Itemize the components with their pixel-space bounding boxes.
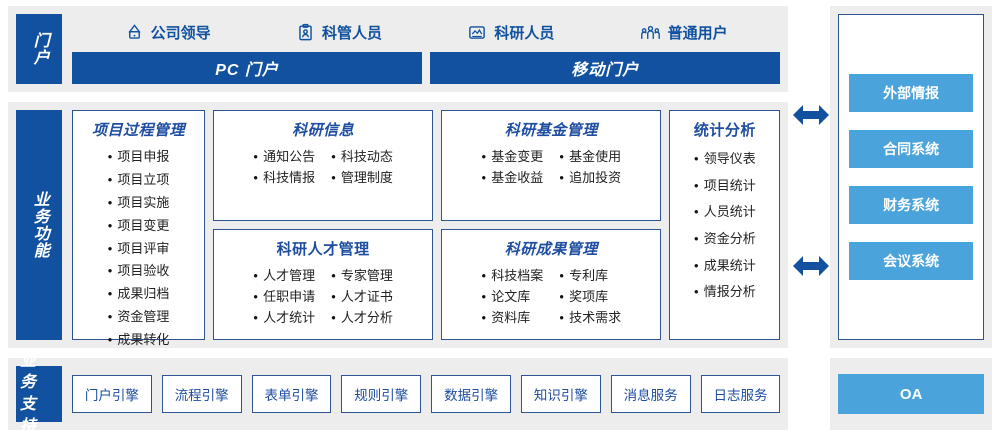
role-company-leader[interactable]: 公司领导 (125, 22, 211, 43)
column-info-talent: 科研信息 通知公告 科技动态 科技情报 管理制度 科研人才管理 人才管理 专家管… (213, 110, 433, 340)
portal-band: 门户 公司领导 (8, 6, 788, 92)
list-item[interactable]: 人才证书 (331, 286, 393, 307)
list-item[interactable]: 成果转化 (108, 329, 170, 352)
portal-band-label-text: 门户 (28, 32, 50, 66)
list-item[interactable]: 项目立项 (108, 169, 170, 192)
list-item[interactable]: 基金使用 (559, 146, 621, 167)
list-item[interactable]: 人才分析 (331, 307, 393, 328)
external-system-intelligence[interactable]: 外部情报 (849, 74, 973, 112)
double-arrow-icon (792, 102, 830, 128)
list-item[interactable]: 成果统计 (694, 253, 756, 280)
oa-band: OA (830, 358, 992, 430)
connector-arrows (790, 0, 832, 436)
column-fund-achievement: 科研基金管理 基金变更 基金使用 基金收益 追加投资 科研成果管理 科技档案 专… (441, 110, 661, 340)
business-support-band-label-text: 业务支持 (18, 351, 39, 436)
researcher-icon (467, 23, 487, 42)
list-item[interactable]: 专家管理 (331, 265, 393, 286)
card-items-research-fund: 基金变更 基金使用 基金收益 追加投资 (481, 146, 621, 188)
external-systems-band: 外部情报 合同系统 财务系统 会议系统 (830, 6, 992, 348)
list-item[interactable]: 科技情报 (253, 167, 315, 188)
list-item[interactable]: 项目统计 (694, 173, 756, 200)
engine-workflow[interactable]: 流程引擎 (162, 375, 242, 413)
role-general-user[interactable]: 普通用户 (640, 22, 728, 43)
portal-bars: PC 门户 移动门户 (72, 52, 780, 84)
card-items-project-process: 项目申报 项目立项 项目实施 项目变更 项目评审 项目验收 成果归档 资金管理 … (108, 146, 170, 352)
list-item[interactable]: 管理制度 (331, 167, 393, 188)
company-leader-icon (125, 23, 144, 42)
list-item[interactable]: 人才统计 (253, 307, 315, 328)
double-arrow-top (792, 102, 830, 133)
list-item[interactable]: 人员统计 (694, 199, 756, 226)
external-systems-box: 外部情报 合同系统 财务系统 会议系统 (838, 14, 984, 340)
portal-band-label: 门户 (16, 14, 62, 84)
service-message[interactable]: 消息服务 (611, 375, 691, 413)
card-title-research-talent: 科研人才管理 (277, 238, 370, 259)
external-system-finance[interactable]: 财务系统 (849, 186, 973, 224)
engine-list: 门户引擎 流程引擎 表单引擎 规则引擎 数据引擎 知识引擎 消息服务 日志服务 (72, 366, 780, 422)
card-items-statistics-analysis: 领导仪表 项目统计 人员统计 资金分析 成果统计 情报分析 (694, 146, 756, 306)
list-item[interactable]: 项目评审 (108, 238, 170, 261)
role-label-research-admin: 科管人员 (322, 22, 382, 43)
list-item[interactable]: 人才管理 (253, 265, 315, 286)
external-system-contract[interactable]: 合同系统 (849, 130, 973, 168)
list-item[interactable]: 资金管理 (108, 306, 170, 329)
list-item[interactable]: 科技动态 (331, 146, 393, 167)
engine-portal[interactable]: 门户引擎 (72, 375, 152, 413)
portal-content: 公司领导 科管人员 (72, 14, 780, 84)
card-items-research-talent: 人才管理 专家管理 任职申请 人才证书 人才统计 人才分析 (253, 265, 393, 328)
card-project-process[interactable]: 项目过程管理 项目申报 项目立项 项目实施 项目变更 项目评审 项目验收 成果归… (72, 110, 205, 340)
left-stack: 门户 公司领导 (0, 0, 788, 436)
card-title-research-info: 科研信息 (292, 119, 354, 140)
list-item[interactable]: 科技档案 (481, 265, 543, 286)
pc-portal-bar[interactable]: PC 门户 (72, 52, 422, 84)
list-item[interactable]: 项目验收 (108, 260, 170, 283)
list-item[interactable]: 奖项库 (559, 286, 621, 307)
list-item[interactable]: 资料库 (481, 307, 543, 328)
list-item[interactable]: 项目变更 (108, 215, 170, 238)
system-architecture-diagram: 门户 公司领导 (0, 0, 1000, 436)
list-item[interactable]: 通知公告 (253, 146, 315, 167)
research-admin-icon (296, 23, 315, 42)
function-cards-area: 项目过程管理 项目申报 项目立项 项目实施 项目变更 项目评审 项目验收 成果归… (72, 110, 780, 340)
role-label-researcher: 科研人员 (494, 22, 554, 43)
business-function-band-label: 业务功能 (16, 110, 62, 340)
card-research-achievement[interactable]: 科研成果管理 科技档案 专利库 论文库 奖项库 资料库 技术需求 (441, 229, 661, 340)
card-research-talent[interactable]: 科研人才管理 人才管理 专家管理 任职申请 人才证书 人才统计 人才分析 (213, 229, 433, 340)
list-item[interactable]: 论文库 (481, 286, 543, 307)
role-label-company-leader: 公司领导 (151, 22, 211, 43)
double-arrow-bottom (792, 253, 830, 284)
external-systems-column: 外部情报 合同系统 财务系统 会议系统 OA (830, 0, 1000, 436)
list-item[interactable]: 项目实施 (108, 192, 170, 215)
role-researcher[interactable]: 科研人员 (467, 22, 554, 43)
list-item[interactable]: 基金收益 (481, 167, 543, 188)
card-title-research-fund: 科研基金管理 (505, 119, 598, 140)
card-research-fund[interactable]: 科研基金管理 基金变更 基金使用 基金收益 追加投资 (441, 110, 661, 221)
engine-rule[interactable]: 规则引擎 (341, 375, 421, 413)
list-item[interactable]: 专利库 (559, 265, 621, 286)
list-item[interactable]: 基金变更 (481, 146, 543, 167)
double-arrow-icon (792, 253, 830, 279)
business-support-band: 业务支持 门户引擎 流程引擎 表单引擎 规则引擎 数据引擎 知识引擎 消息服务 … (8, 358, 788, 430)
list-item[interactable]: 领导仪表 (694, 146, 756, 173)
role-research-admin[interactable]: 科管人员 (296, 22, 382, 43)
roles-row: 公司领导 科管人员 (72, 14, 780, 48)
list-item[interactable]: 成果归档 (108, 283, 170, 306)
oa-system[interactable]: OA (838, 374, 984, 414)
engine-knowledge[interactable]: 知识引擎 (521, 375, 601, 413)
business-support-band-label: 业务支持 (16, 366, 62, 422)
card-items-research-info: 通知公告 科技动态 科技情报 管理制度 (253, 146, 393, 188)
card-title-statistics-analysis: 统计分析 (694, 119, 756, 140)
external-system-meeting[interactable]: 会议系统 (849, 242, 973, 280)
business-function-band-label-text: 业务功能 (28, 191, 50, 259)
business-function-band: 业务功能 项目过程管理 项目申报 项目立项 项目实施 项目变更 项目评审 项目验… (8, 102, 788, 348)
engine-data[interactable]: 数据引擎 (431, 375, 511, 413)
card-research-info[interactable]: 科研信息 通知公告 科技动态 科技情报 管理制度 (213, 110, 433, 221)
general-user-icon (640, 23, 661, 42)
card-title-project-process: 项目过程管理 (92, 119, 185, 140)
mobile-portal-bar[interactable]: 移动门户 (430, 52, 780, 84)
list-item[interactable]: 资金分析 (694, 226, 756, 253)
list-item[interactable]: 技术需求 (559, 307, 621, 328)
list-item[interactable]: 情报分析 (694, 279, 756, 306)
card-items-research-achievement: 科技档案 专利库 论文库 奖项库 资料库 技术需求 (481, 265, 621, 328)
engine-form[interactable]: 表单引擎 (252, 375, 332, 413)
list-item[interactable]: 追加投资 (559, 167, 621, 188)
card-title-research-achievement: 科研成果管理 (505, 238, 598, 259)
role-label-general-user: 普通用户 (668, 22, 728, 43)
list-item[interactable]: 项目申报 (108, 146, 170, 169)
card-statistics-analysis[interactable]: 统计分析 领导仪表 项目统计 人员统计 资金分析 成果统计 情报分析 (669, 110, 780, 340)
list-item[interactable]: 任职申请 (253, 286, 315, 307)
service-log[interactable]: 日志服务 (701, 375, 781, 413)
